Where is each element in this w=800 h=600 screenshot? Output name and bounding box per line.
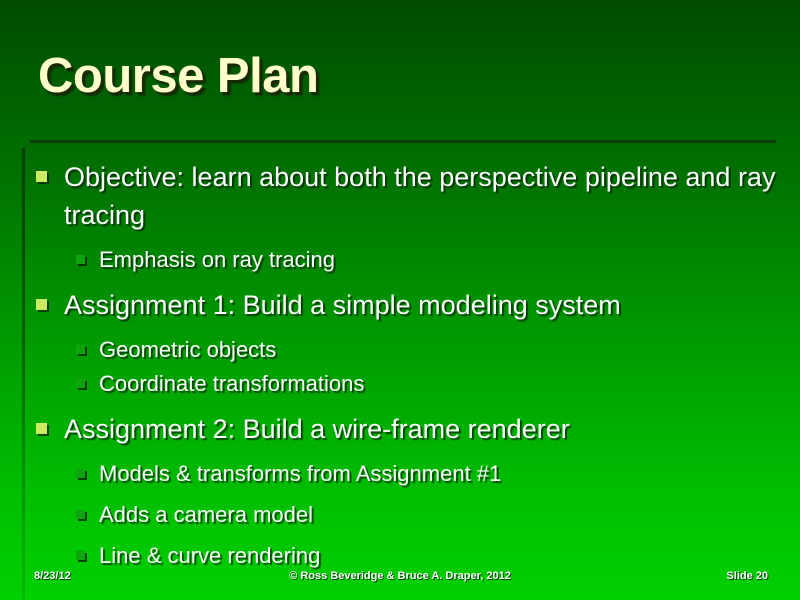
square-bullet-icon — [76, 510, 85, 519]
list-item-label: Geometric objects — [99, 333, 276, 366]
page-title: Course Plan — [38, 48, 318, 104]
left-accent-line — [22, 148, 25, 600]
square-bullet-icon — [76, 551, 85, 560]
square-bullet-icon — [76, 345, 85, 354]
list-item: Line & curve rendering — [76, 539, 776, 572]
square-bullet-icon — [76, 255, 85, 264]
spacer — [36, 491, 776, 498]
list-item-label: Emphasis on ray tracing — [99, 243, 335, 276]
square-bullet-icon — [36, 299, 47, 310]
list-item: Models & transforms from Assignment #1 — [76, 457, 776, 490]
list-item: Objective: learn about both the perspect… — [36, 158, 776, 234]
list-item-label: Models & transforms from Assignment #1 — [99, 457, 501, 490]
list-item-label: Assignment 2: Build a wire-frame rendere… — [64, 410, 570, 448]
presentation-slide: Course Plan Objective: learn about both … — [0, 0, 800, 600]
slide-footer: 8/23/12 © Ross Beveridge & Bruce A. Drap… — [0, 570, 800, 586]
title-divider — [30, 140, 776, 143]
spacer — [36, 401, 776, 410]
spacer — [36, 326, 776, 333]
list-item: Emphasis on ray tracing — [76, 243, 776, 276]
list-item: Assignment 1: Build a simple modeling sy… — [36, 286, 776, 324]
list-item-label: Coordinate transformations — [99, 367, 364, 400]
list-item-label: Adds a camera model — [99, 498, 313, 531]
spacer — [36, 277, 776, 286]
list-item: Assignment 2: Build a wire-frame rendere… — [36, 410, 776, 448]
square-bullet-icon — [76, 469, 85, 478]
footer-copyright: © Ross Beveridge & Bruce A. Draper, 2012 — [0, 570, 800, 582]
square-bullet-icon — [36, 423, 47, 434]
list-item: Adds a camera model — [76, 498, 776, 531]
list-item-label: Objective: learn about both the perspect… — [64, 158, 776, 234]
spacer — [36, 236, 776, 243]
square-bullet-icon — [36, 171, 47, 182]
list-item-label: Line & curve rendering — [99, 539, 320, 572]
list-item: Coordinate transformations — [76, 367, 776, 400]
spacer — [36, 450, 776, 457]
list-item: Geometric objects — [76, 333, 776, 366]
slide-body: Objective: learn about both the perspect… — [36, 158, 776, 573]
spacer — [36, 532, 776, 539]
square-bullet-icon — [76, 379, 85, 388]
list-item-label: Assignment 1: Build a simple modeling sy… — [64, 286, 621, 324]
footer-slide-number: Slide 20 — [726, 570, 768, 582]
